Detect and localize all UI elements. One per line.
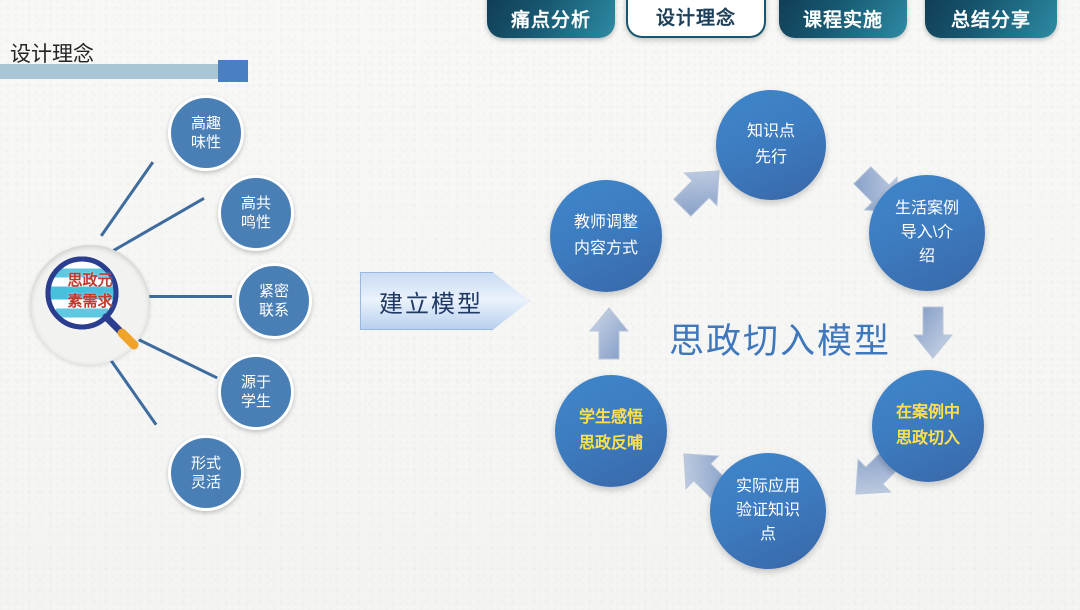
connector-line-1 — [100, 161, 154, 236]
node-line2: 思政反哺 — [579, 431, 643, 457]
node-line2: 内容方式 — [574, 236, 638, 262]
bubble-line1: 紧密 — [259, 282, 289, 301]
bubble-line2: 味性 — [191, 133, 221, 152]
bubble-line1: 高共 — [241, 194, 271, 213]
node-line2: 验证知识 — [736, 499, 800, 523]
requirement-bubble-from-students[interactable]: 源于 学生 — [218, 354, 294, 430]
title-underline-bar — [0, 64, 246, 79]
node-line1: 学生感悟 — [579, 405, 643, 431]
requirements-cluster: 思政元 素需求 高趣 味性 高共 鸣性 紧密 联系 源于 学生 形式 灵活 — [0, 80, 340, 550]
requirement-bubble-high-resonance[interactable]: 高共 鸣性 — [218, 175, 294, 251]
cycle-node-knowledge-first[interactable]: 知识点 先行 — [716, 90, 826, 200]
requirement-bubble-high-interest[interactable]: 高趣 味性 — [168, 95, 244, 171]
tab-label: 痛点分析 — [511, 5, 591, 32]
requirement-bubble-close-connection[interactable]: 紧密 联系 — [236, 263, 312, 339]
cycle-node-student-feedback[interactable]: 学生感悟 思政反哺 — [555, 375, 667, 487]
arrow-to-teacher-adjust-icon — [582, 303, 636, 365]
center-label-line1: 思政元 — [36, 270, 144, 291]
tab-bar: 痛点分析 设计理念 课程实施 总结分享 — [0, 0, 1080, 40]
node-line3: 绍 — [919, 245, 935, 269]
slide-canvas: 痛点分析 设计理念 课程实施 总结分享 设计理念 — [0, 0, 1080, 610]
tab-label: 课程实施 — [803, 5, 883, 32]
bubble-line1: 形式 — [191, 454, 221, 473]
node-line2: 思政切入 — [896, 426, 960, 452]
cycle-node-teacher-adjust[interactable]: 教师调整 内容方式 — [550, 180, 662, 292]
build-model-banner: 建立模型 — [360, 272, 530, 330]
node-line1: 实际应用 — [736, 475, 800, 499]
tab-design-concept[interactable]: 设计理念 — [626, 0, 766, 38]
bubble-line2: 联系 — [259, 301, 289, 320]
node-line1: 教师调整 — [574, 210, 638, 236]
node-line3: 点 — [760, 523, 776, 547]
node-line2: 导入\介 — [901, 221, 953, 245]
title-underline-cap — [218, 60, 248, 82]
bubble-line1: 源于 — [241, 373, 271, 392]
tab-label: 设计理念 — [656, 3, 736, 30]
bubble-line2: 学生 — [241, 392, 271, 411]
node-line2: 先行 — [755, 145, 787, 171]
cycle-node-ideology-in-case[interactable]: 在案例中 思政切入 — [872, 370, 984, 482]
node-line1: 在案例中 — [896, 400, 960, 426]
bubble-line2: 灵活 — [191, 473, 221, 492]
cycle-node-life-case-intro[interactable]: 生活案例 导入\介 绍 — [869, 175, 985, 291]
node-line1: 生活案例 — [895, 197, 959, 221]
requirement-bubble-flexible-form[interactable]: 形式 灵活 — [168, 435, 244, 511]
tab-label: 总结分享 — [951, 5, 1031, 32]
cycle-node-apply-verify[interactable]: 实际应用 验证知识 点 — [710, 453, 826, 569]
bubble-line1: 高趣 — [191, 114, 221, 133]
tab-course-implementation[interactable]: 课程实施 — [779, 0, 907, 38]
tab-summary-sharing[interactable]: 总结分享 — [925, 0, 1057, 38]
center-label-line2: 素需求 — [36, 291, 144, 312]
cycle-title: 思政切入模型 — [640, 313, 920, 364]
bubble-line2: 鸣性 — [241, 213, 271, 232]
requirements-center-label: 思政元 素需求 — [36, 270, 144, 312]
banner-label: 建立模型 — [379, 284, 483, 319]
node-line1: 知识点 — [747, 119, 795, 145]
tab-pain-point-analysis[interactable]: 痛点分析 — [487, 0, 615, 38]
